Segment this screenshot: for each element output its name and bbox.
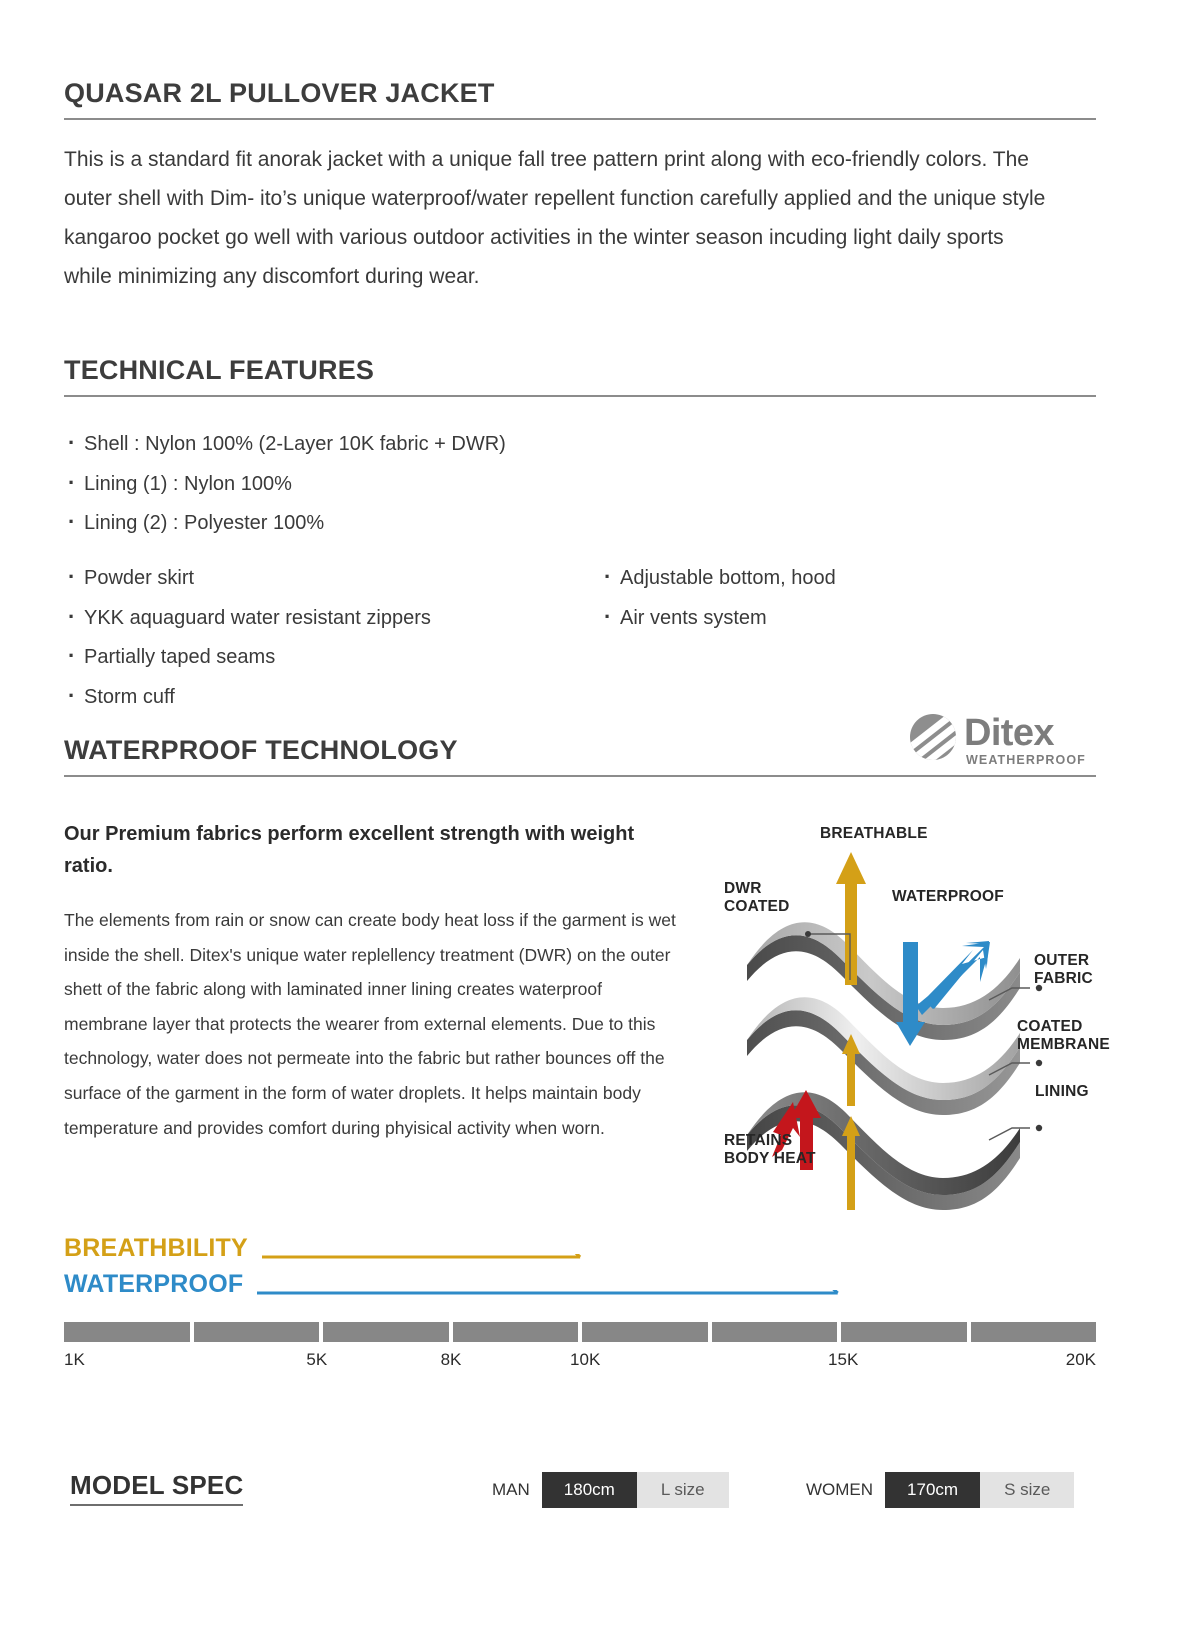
- features-list-right: Adjustable bottom, hood Air vents system: [604, 558, 836, 637]
- scale-tick: 15K: [828, 1350, 858, 1370]
- scale-segment: [712, 1322, 838, 1342]
- scale-tick-labels: 1K5K8K10K15K20K: [64, 1350, 1096, 1380]
- spec-size-women: S size: [980, 1472, 1074, 1508]
- model-spec-label: MODEL SPEC: [70, 1470, 243, 1506]
- waterproof-lead-text: Our Premium fabrics perform excellent st…: [64, 818, 664, 882]
- list-item: Lining (2) : Polyester 100%: [68, 503, 506, 543]
- scale-segment: [323, 1322, 449, 1342]
- model-spec-man: MAN 180cm L size: [492, 1472, 729, 1508]
- outer-line-1: OUTER: [1034, 952, 1093, 970]
- ditex-circle-icon: [910, 714, 956, 760]
- diagram-label-lining: LINING: [1035, 1083, 1089, 1101]
- spec-sheet-page: QUASAR 2L PULLOVER JACKET This is a stan…: [0, 0, 1200, 1626]
- performance-legend: BREATHBILITY WATERPROOF: [64, 1234, 1096, 1314]
- diagram-label-breathable: BREATHABLE: [820, 825, 928, 843]
- list-item: Partially taped seams: [68, 637, 431, 677]
- scale-segment: [971, 1322, 1097, 1342]
- list-item: Shell : Nylon 100% (2-Layer 10K fabric +…: [68, 424, 506, 464]
- scale-tick: 5K: [306, 1350, 327, 1370]
- materials-list: Shell : Nylon 100% (2-Layer 10K fabric +…: [68, 424, 506, 543]
- list-item: Adjustable bottom, hood: [604, 558, 836, 598]
- scale-segment: [194, 1322, 320, 1342]
- list-item: YKK aquaguard water resistant zippers: [68, 598, 431, 638]
- scale-segment: [453, 1322, 579, 1342]
- dwr-line-1: DWR: [724, 880, 790, 898]
- fabric-layers-diagram: BREATHABLE DWR COATED WATERPROOF OUTER F…: [690, 810, 1100, 1210]
- model-spec-women: WOMEN 170cm S size: [806, 1472, 1074, 1508]
- scale-tick: 8K: [441, 1350, 462, 1370]
- features-list-left: Powder skirt YKK aquaguard water resista…: [68, 558, 431, 716]
- coated-line-1: COATED: [1017, 1018, 1110, 1036]
- intro-paragraph: This is a standard fit anorak jacket wit…: [64, 140, 1049, 296]
- diagram-label-waterproof: WATERPROOF: [892, 888, 1004, 906]
- coated-line-2: MEMBRANE: [1017, 1036, 1110, 1054]
- outer-line-2: FABRIC: [1034, 970, 1093, 988]
- rating-scale: 1K5K8K10K15K20K: [64, 1322, 1096, 1380]
- diagram-label-dwr-coated: DWR COATED: [724, 880, 790, 916]
- waterproof-body-text: The elements from rain or snow can creat…: [64, 903, 682, 1145]
- technical-features-heading: TECHNICAL FEATURES: [64, 355, 1096, 397]
- list-item: Storm cuff: [68, 677, 431, 717]
- dwr-line-2: COATED: [724, 898, 790, 916]
- scale-segment: [64, 1322, 190, 1342]
- retains-line-1: RETAINS: [724, 1132, 816, 1150]
- spec-height-man: 180cm: [542, 1472, 637, 1508]
- list-item: Air vents system: [604, 598, 836, 638]
- page-title: QUASAR 2L PULLOVER JACKET: [64, 78, 1096, 120]
- scale-tick: 1K: [64, 1350, 85, 1370]
- list-item: Lining (1) : Nylon 100%: [68, 464, 506, 504]
- diagram-label-outer-fabric: OUTER FABRIC: [1034, 952, 1093, 988]
- performance-label-waterproof: WATERPROOF: [64, 1270, 243, 1299]
- scale-segment: [841, 1322, 967, 1342]
- scale-tick: 20K: [1066, 1350, 1096, 1370]
- breathability-extent-arrow: [262, 1254, 584, 1282]
- retains-line-2: BODY HEAT: [724, 1150, 816, 1168]
- diagram-label-coated-membrane: COATED MEMBRANE: [1017, 1018, 1110, 1054]
- diagram-label-retains-body-heat: RETAINS BODY HEAT: [724, 1132, 816, 1168]
- logo-wordmark: Ditex: [964, 712, 1054, 755]
- spec-height-women: 170cm: [885, 1472, 980, 1508]
- scale-segment: [582, 1322, 708, 1342]
- spec-title-man: MAN: [492, 1480, 530, 1500]
- scale-bar: [64, 1322, 1096, 1342]
- scale-tick: 10K: [570, 1350, 600, 1370]
- performance-label-breathability: BREATHBILITY: [64, 1234, 248, 1263]
- logo-tagline: WEATHERPROOF: [966, 753, 1086, 767]
- spec-size-man: L size: [637, 1472, 729, 1508]
- footer: MODEL SPEC MAN 180cm L size WOMEN 170cm …: [0, 1462, 1200, 1522]
- waterproof-extent-arrow: [257, 1290, 842, 1318]
- list-item: Powder skirt: [68, 558, 431, 598]
- spec-title-women: WOMEN: [806, 1480, 873, 1500]
- ditex-logo: Ditex WEATHERPROOF: [910, 712, 1096, 768]
